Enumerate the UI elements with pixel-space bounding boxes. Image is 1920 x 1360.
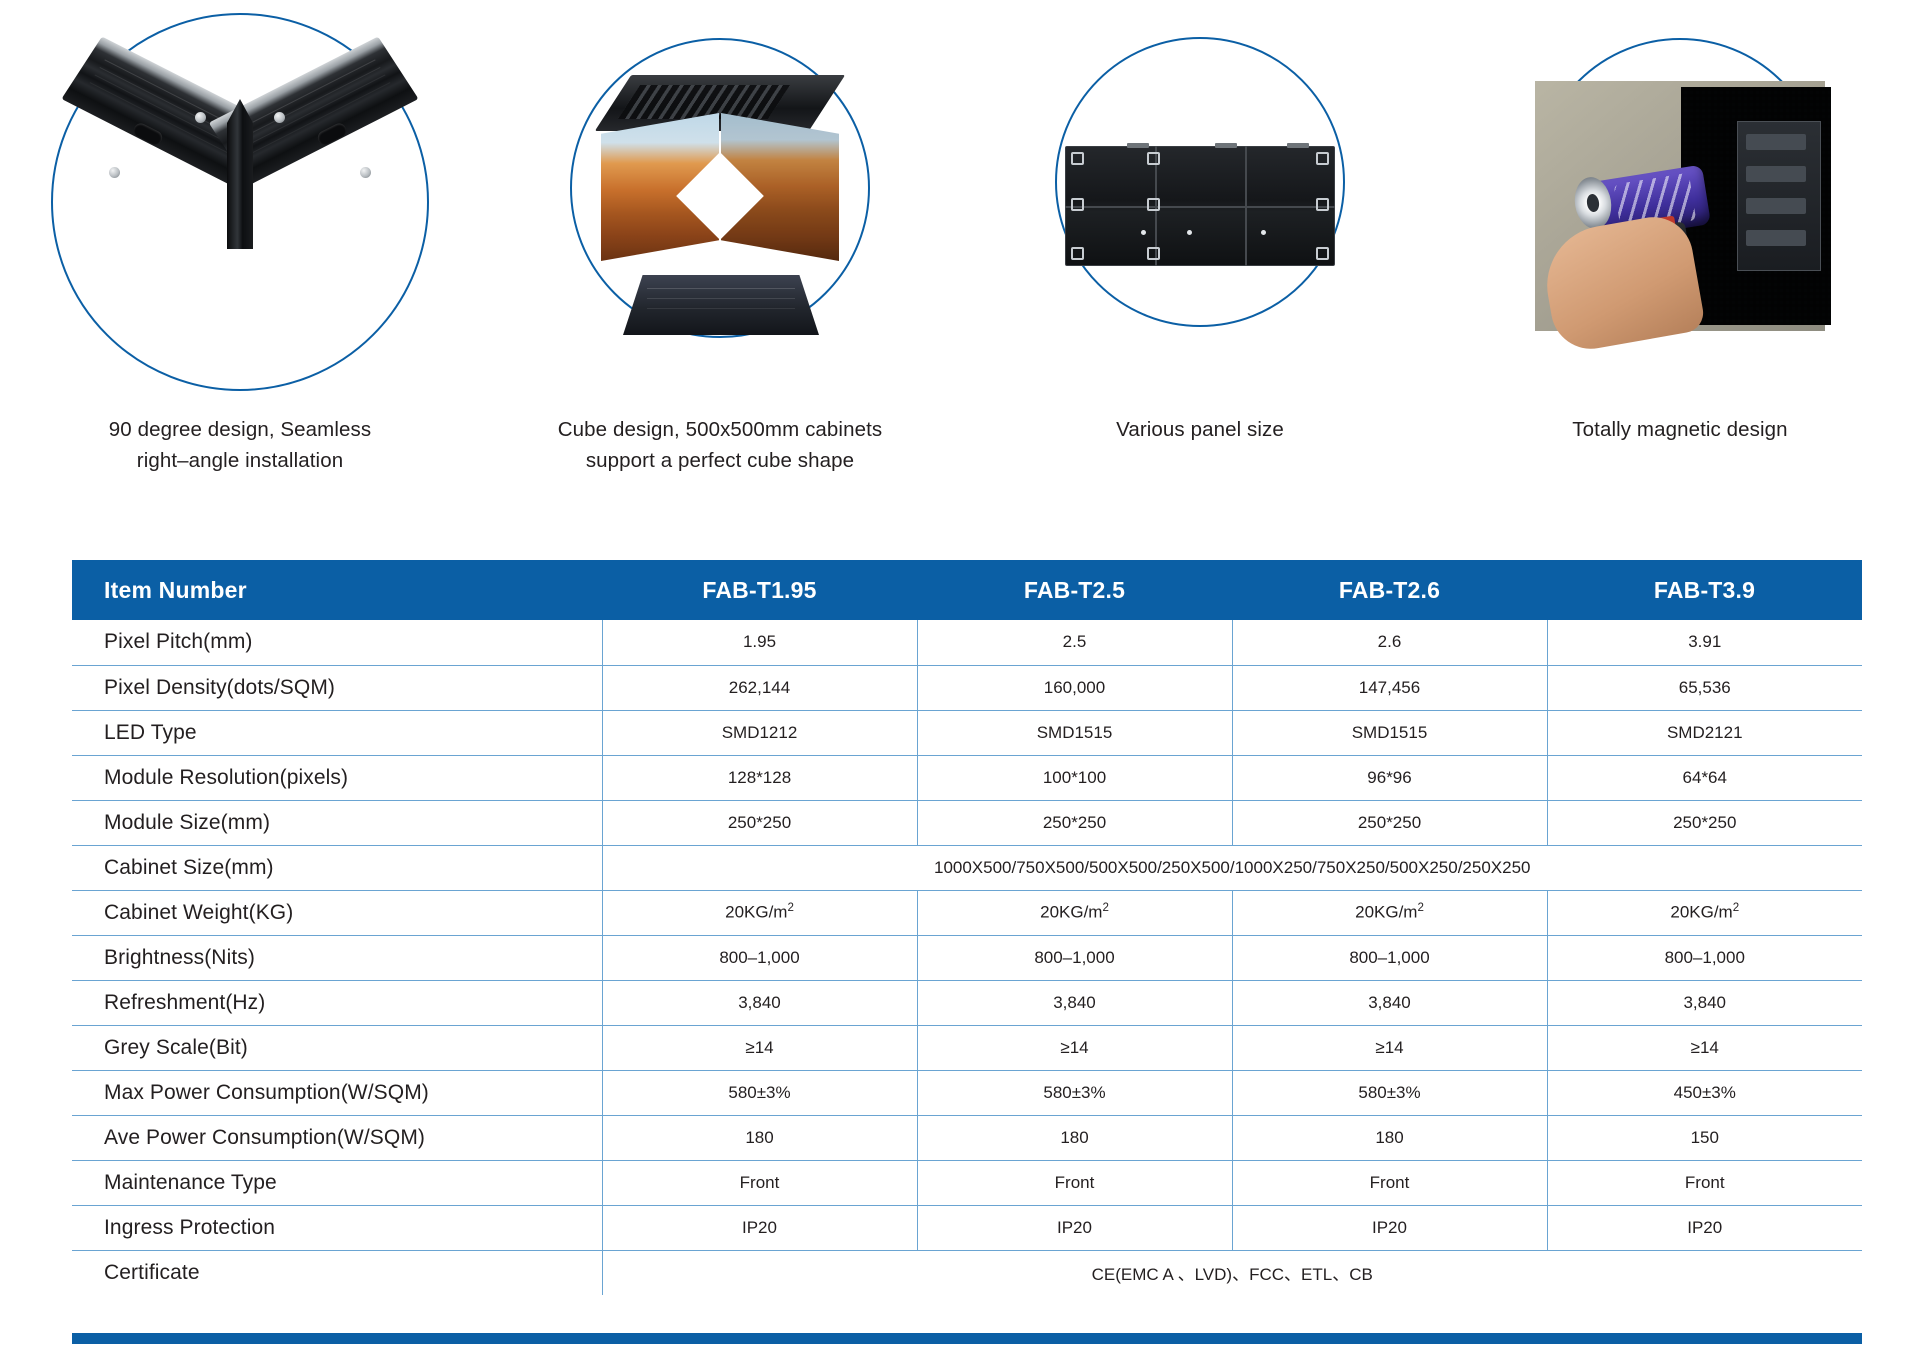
feature-caption: Totally magnetic design <box>1465 414 1895 445</box>
row-label: Max Power Consumption(W/SQM) <box>72 1070 602 1115</box>
feature-strip: 90 degree design, Seamless right–angle i… <box>0 0 1920 530</box>
value-text: 20KG/m <box>725 903 787 922</box>
row-value: 96*96 <box>1232 755 1547 800</box>
table-row: Brightness(Nits)800–1,000800–1,000800–1,… <box>72 935 1862 980</box>
table-row: LED TypeSMD1212SMD1515SMD1515SMD2121 <box>72 710 1862 755</box>
row-value: SMD2121 <box>1547 710 1862 755</box>
feature-photo-magnetic-tool <box>1485 10 1875 410</box>
row-value: 800–1,000 <box>1547 935 1862 980</box>
row-value: 180 <box>917 1115 1232 1160</box>
row-value: 800–1,000 <box>917 935 1232 980</box>
spec-sheet-page: 90 degree design, Seamless right–angle i… <box>0 0 1920 1360</box>
table-row: Cabinet Weight(KG)20KG/m220KG/m220KG/m22… <box>72 890 1862 935</box>
row-label: Cabinet Weight(KG) <box>72 890 602 935</box>
row-value: 800–1,000 <box>602 935 917 980</box>
row-value: 180 <box>602 1115 917 1160</box>
row-label: Pixel Pitch(mm) <box>72 620 602 665</box>
magnetic-suction-tool-photo <box>1535 81 1825 331</box>
row-value: ≥14 <box>602 1025 917 1070</box>
caption-line: Various panel size <box>985 414 1415 445</box>
feature-item-cube-design: Cube design, 500x500mm cabinets support … <box>480 0 960 530</box>
table-row: Refreshment(Hz)3,8403,8403,8403,840 <box>72 980 1862 1025</box>
value-superscript: 2 <box>787 902 793 914</box>
row-value: SMD1515 <box>1232 710 1547 755</box>
feature-item-panel-size: Various panel size <box>960 0 1440 530</box>
row-value: 262,144 <box>602 665 917 710</box>
caption-line: 90 degree design, Seamless <box>25 414 455 445</box>
led-panel-array-photo <box>1065 146 1335 266</box>
feature-caption: Cube design, 500x500mm cabinets support … <box>505 414 935 476</box>
row-label: Module Resolution(pixels) <box>72 755 602 800</box>
row-value: 64*64 <box>1547 755 1862 800</box>
feature-item-magnetic-design: Totally magnetic design <box>1440 0 1920 530</box>
row-value: 450±3% <box>1547 1070 1862 1115</box>
row-value: ≥14 <box>917 1025 1232 1070</box>
column-header-model-3: FAB-T2.6 <box>1232 560 1547 620</box>
row-label: LED Type <box>72 710 602 755</box>
table-body: Pixel Pitch(mm)1.952.52.63.91Pixel Densi… <box>72 620 1862 1295</box>
value-superscript: 2 <box>1417 902 1423 914</box>
row-value: Front <box>1547 1160 1862 1205</box>
row-value: 3,840 <box>602 980 917 1025</box>
table-row: Module Size(mm)250*250250*250250*250250*… <box>72 800 1862 845</box>
value-superscript: 2 <box>1733 902 1739 914</box>
row-value: IP20 <box>602 1205 917 1250</box>
row-value: 580±3% <box>602 1070 917 1115</box>
row-value: 20KG/m2 <box>917 890 1232 935</box>
caption-line: Cube design, 500x500mm cabinets <box>505 414 935 445</box>
row-value: 3,840 <box>917 980 1232 1025</box>
row-label: Pixel Density(dots/SQM) <box>72 665 602 710</box>
row-value: 2.5 <box>917 620 1232 665</box>
table-row: Pixel Density(dots/SQM)262,144160,000147… <box>72 665 1862 710</box>
value-text: 20KG/m <box>1670 903 1732 922</box>
table-header-row: Item Number FAB-T1.95 FAB-T2.5 FAB-T2.6 … <box>72 560 1862 620</box>
value-superscript: 2 <box>1102 902 1108 914</box>
row-label: Ingress Protection <box>72 1205 602 1250</box>
row-value: ≥14 <box>1547 1025 1862 1070</box>
row-value: 20KG/m2 <box>1547 890 1862 935</box>
row-label: Grey Scale(Bit) <box>72 1025 602 1070</box>
table-row: Max Power Consumption(W/SQM)580±3%580±3%… <box>72 1070 1862 1115</box>
row-value: 580±3% <box>917 1070 1232 1115</box>
row-value-merged: 1000X500/750X500/500X500/250X500/1000X25… <box>602 845 1862 890</box>
row-value: IP20 <box>1232 1205 1547 1250</box>
row-value: 250*250 <box>1547 800 1862 845</box>
feature-photo-corner-cabinet <box>45 10 435 410</box>
row-value: 20KG/m2 <box>602 890 917 935</box>
row-value: 250*250 <box>1232 800 1547 845</box>
row-value: SMD1212 <box>602 710 917 755</box>
row-value: 2.6 <box>1232 620 1547 665</box>
row-value: IP20 <box>917 1205 1232 1250</box>
row-label: Certificate <box>72 1250 602 1295</box>
specification-table-wrapper: Item Number FAB-T1.95 FAB-T2.5 FAB-T2.6 … <box>72 560 1862 1295</box>
table-row: Grey Scale(Bit)≥14≥14≥14≥14 <box>72 1025 1862 1070</box>
row-label: Brightness(Nits) <box>72 935 602 980</box>
table-header: Item Number FAB-T1.95 FAB-T2.5 FAB-T2.6 … <box>72 560 1862 620</box>
row-value: 147,456 <box>1232 665 1547 710</box>
table-row: CertificateCE(EMC A 、LVD)、FCC、ETL、CB <box>72 1250 1862 1295</box>
value-text: 20KG/m <box>1355 903 1417 922</box>
led-cube-display-photo <box>595 79 845 329</box>
column-header-model-2: FAB-T2.5 <box>917 560 1232 620</box>
feature-photo-cube-display <box>525 10 915 410</box>
row-value: 150 <box>1547 1115 1862 1160</box>
bottom-accent-bar <box>72 1333 1862 1344</box>
row-value: 3,840 <box>1547 980 1862 1025</box>
row-label: Cabinet Size(mm) <box>72 845 602 890</box>
row-value: 20KG/m2 <box>1232 890 1547 935</box>
feature-caption: Various panel size <box>985 414 1415 445</box>
column-header-model-4: FAB-T3.9 <box>1547 560 1862 620</box>
row-value: Front <box>602 1160 917 1205</box>
row-value-merged: CE(EMC A 、LVD)、FCC、ETL、CB <box>602 1250 1862 1295</box>
feature-item-corner-design: 90 degree design, Seamless right–angle i… <box>0 0 480 530</box>
table-row: Cabinet Size(mm)1000X500/750X500/500X500… <box>72 845 1862 890</box>
table-row: Ingress ProtectionIP20IP20IP20IP20 <box>72 1205 1862 1250</box>
caption-line: support a perfect cube shape <box>505 445 935 476</box>
row-value: 250*250 <box>602 800 917 845</box>
row-value: 250*250 <box>917 800 1232 845</box>
row-label: Maintenance Type <box>72 1160 602 1205</box>
row-value: SMD1515 <box>917 710 1232 755</box>
row-label: Module Size(mm) <box>72 800 602 845</box>
table-row: Ave Power Consumption(W/SQM)180180180150 <box>72 1115 1862 1160</box>
row-label: Refreshment(Hz) <box>72 980 602 1025</box>
row-value: 580±3% <box>1232 1070 1547 1115</box>
led-corner-cabinet-photo <box>75 83 405 313</box>
row-value: Front <box>1232 1160 1547 1205</box>
row-value: 180 <box>1232 1115 1547 1160</box>
caption-line: Totally magnetic design <box>1465 414 1895 445</box>
row-value: ≥14 <box>1232 1025 1547 1070</box>
row-value: Front <box>917 1160 1232 1205</box>
column-header-model-1: FAB-T1.95 <box>602 560 917 620</box>
table-row: Module Resolution(pixels)128*128100*1009… <box>72 755 1862 800</box>
row-value: 65,536 <box>1547 665 1862 710</box>
value-text: 20KG/m <box>1040 903 1102 922</box>
row-value: 800–1,000 <box>1232 935 1547 980</box>
feature-caption: 90 degree design, Seamless right–angle i… <box>25 414 455 476</box>
specification-table: Item Number FAB-T1.95 FAB-T2.5 FAB-T2.6 … <box>72 560 1862 1295</box>
column-header-item-number: Item Number <box>72 560 602 620</box>
row-value: 3,840 <box>1232 980 1547 1025</box>
feature-photo-panel-array <box>1005 10 1395 410</box>
row-label: Ave Power Consumption(W/SQM) <box>72 1115 602 1160</box>
row-value: 3.91 <box>1547 620 1862 665</box>
table-row: Pixel Pitch(mm)1.952.52.63.91 <box>72 620 1862 665</box>
table-row: Maintenance TypeFrontFrontFrontFront <box>72 1160 1862 1205</box>
row-value: 1.95 <box>602 620 917 665</box>
caption-line: right–angle installation <box>25 445 455 476</box>
row-value: IP20 <box>1547 1205 1862 1250</box>
row-value: 160,000 <box>917 665 1232 710</box>
row-value: 128*128 <box>602 755 917 800</box>
row-value: 100*100 <box>917 755 1232 800</box>
